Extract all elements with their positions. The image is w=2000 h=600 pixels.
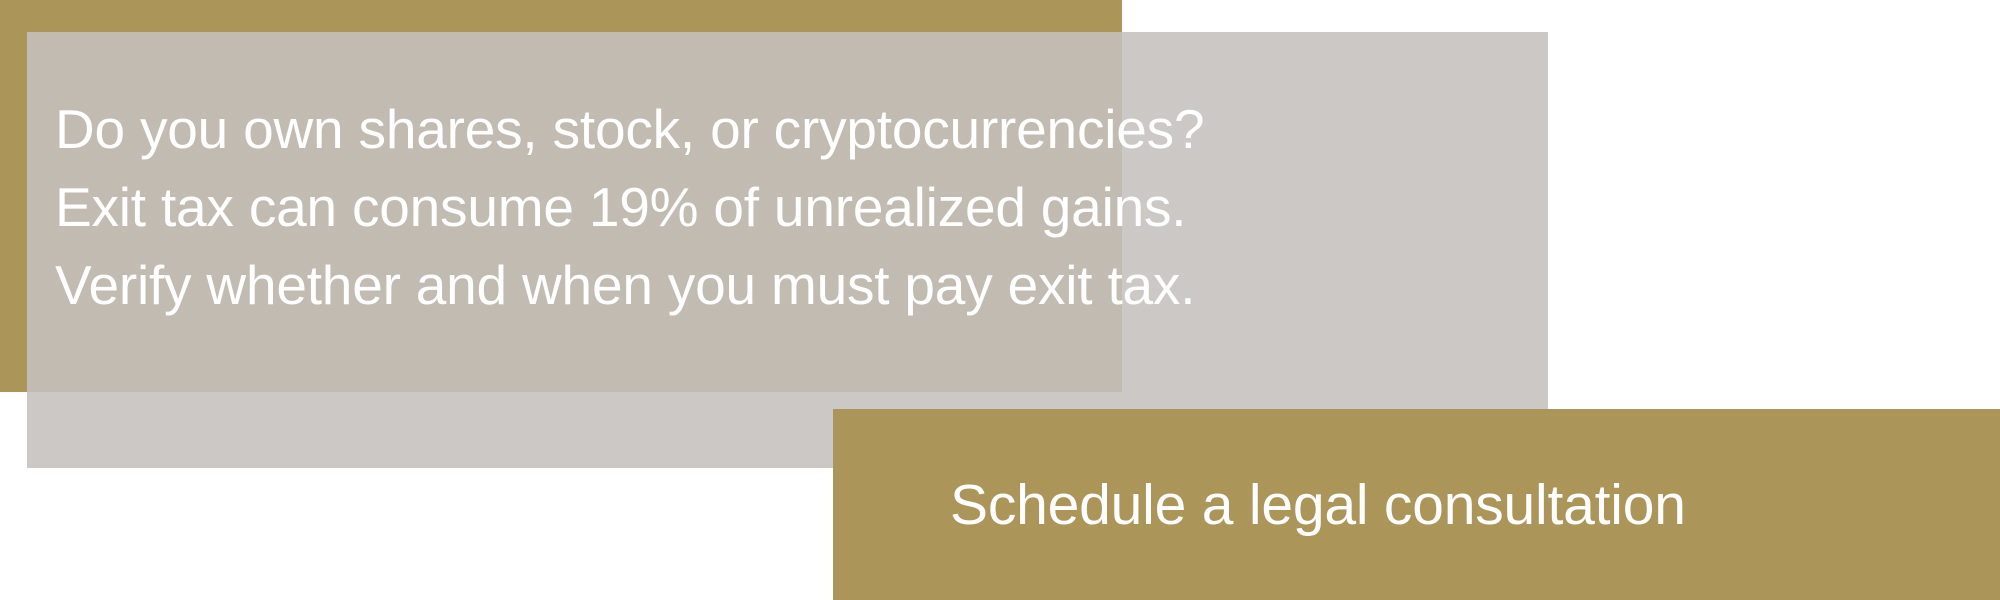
message-text-block: Do you own shares, stock, or cryptocurre… <box>55 90 1548 324</box>
promo-banner: Do you own shares, stock, or cryptocurre… <box>0 0 2000 600</box>
schedule-consultation-label: Schedule a legal consultation <box>950 472 1686 538</box>
message-line-1: Do you own shares, stock, or cryptocurre… <box>55 90 1548 168</box>
message-panel: Do you own shares, stock, or cryptocurre… <box>27 32 1548 468</box>
message-line-2: Exit tax can consume 19% of unrealized g… <box>55 168 1548 246</box>
schedule-consultation-button[interactable]: Schedule a legal consultation <box>833 409 2000 600</box>
message-line-3: Verify whether and when you must pay exi… <box>55 246 1548 324</box>
